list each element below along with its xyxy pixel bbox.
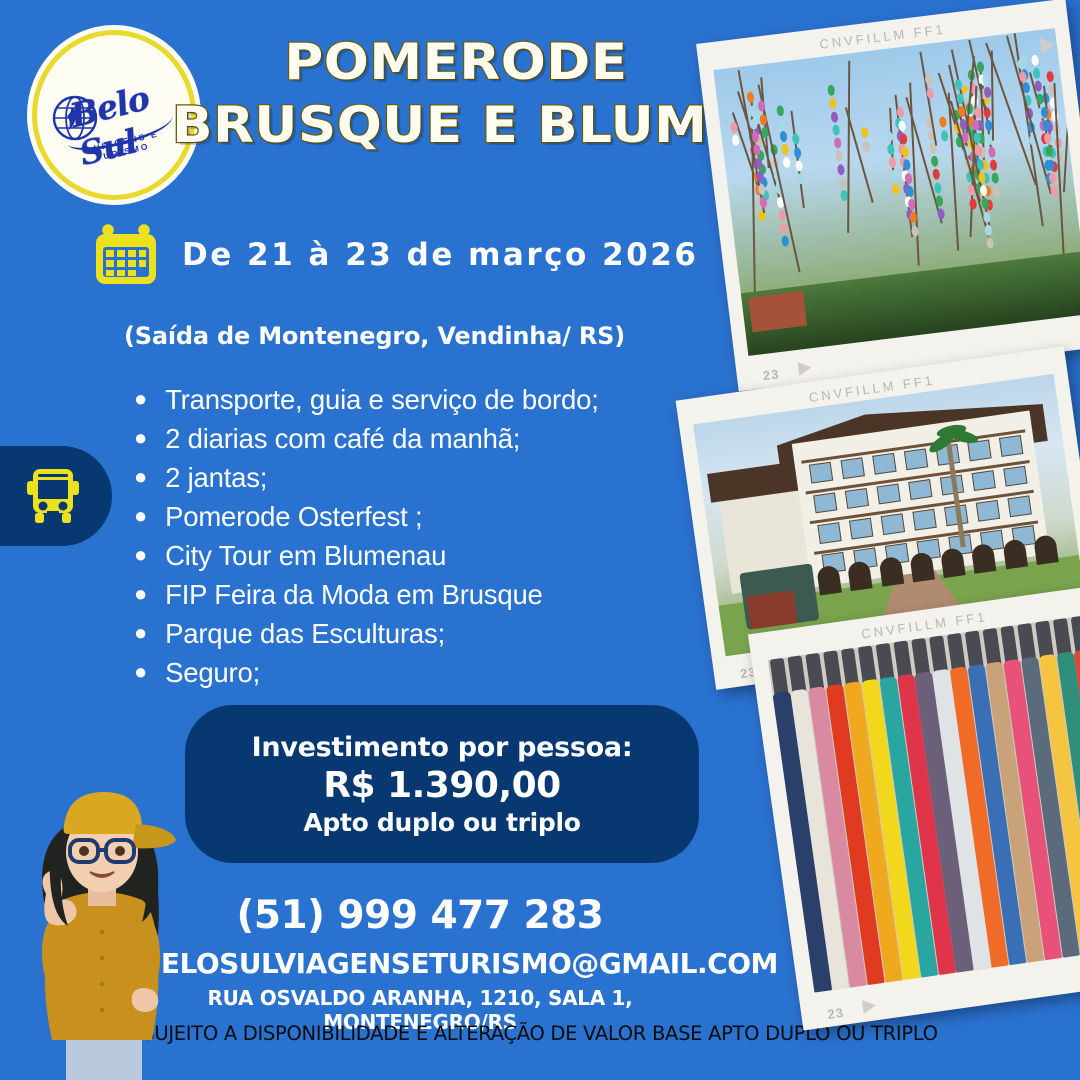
bullet-dot: ● <box>134 622 147 644</box>
list-item: ●Pomerode Osterfest ; <box>134 503 694 531</box>
list-item-label: Parque das Esculturas; <box>165 620 445 648</box>
date-row: De 21 à 23 de março 2026 <box>92 222 698 288</box>
list-item-label: Pomerode Osterfest ; <box>165 503 422 531</box>
photo-image <box>713 28 1080 356</box>
bullet-dot: ● <box>134 466 147 488</box>
bullet-dot: ● <box>134 661 147 683</box>
headline-line-2: BRUSQUE E BLUMENAU <box>172 99 732 152</box>
price-label: Investimento por pessoa: <box>252 732 633 763</box>
list-item-label: Transporte, guia e serviço de bordo; <box>165 386 599 414</box>
film-triangle-icon <box>798 360 813 375</box>
list-item: ●FIP Feira da Moda em Brusque <box>134 581 694 609</box>
headline-line-1: POMERODE <box>180 36 731 89</box>
bullet-dot: ● <box>134 583 147 605</box>
travel-agent-avatar <box>6 782 196 1080</box>
list-item-label: Seguro; <box>165 659 260 687</box>
photo-image <box>768 615 1080 993</box>
list-item: ●City Tour em Blumenau <box>134 542 694 570</box>
includes-list: ●Transporte, guia e serviço de bordo; ●2… <box>134 386 694 698</box>
list-item: ●Parque das Esculturas; <box>134 620 694 648</box>
contact-block: (51) 999 477 283 BELOSULVIAGENSETURISMO@… <box>140 893 700 1034</box>
email-address[interactable]: BELOSULVIAGENSETURISMO@GMAIL.COM <box>140 947 700 980</box>
trip-dates: De 21 à 23 de março 2026 <box>182 237 698 273</box>
departure-info: (Saída de Montenegro, Vendinha/ RS) <box>124 322 625 350</box>
list-item-label: City Tour em Blumenau <box>165 542 446 570</box>
easter-egg-tree-photo: CNVFILLM FF1 23 <box>696 0 1080 391</box>
bus-icon <box>27 467 79 525</box>
list-item-label: 2 diarias com café da manhã; <box>165 425 520 453</box>
film-triangle-icon <box>862 998 877 1014</box>
bullet-dot: ● <box>134 388 147 410</box>
price-box: Investimento por pessoa: R$ 1.390,00 Apt… <box>185 705 699 863</box>
bus-badge <box>0 446 112 546</box>
film-number: 23 <box>762 366 780 383</box>
bullet-dot: ● <box>134 505 147 527</box>
bullet-dot: ● <box>134 544 147 566</box>
list-item-label: FIP Feira da Moda em Brusque <box>165 581 543 609</box>
list-item: ●2 jantas; <box>134 464 694 492</box>
list-item: ●Seguro; <box>134 659 694 687</box>
film-triangle-icon <box>1040 36 1056 54</box>
headline: POMERODE BRUSQUE E BLUMENAU <box>196 36 716 152</box>
price-note: Apto duplo ou triplo <box>303 808 580 837</box>
bullet-dot: ● <box>134 427 147 449</box>
price-value: R$ 1.390,00 <box>323 765 560 806</box>
phone-number[interactable]: (51) 999 477 283 <box>140 893 700 938</box>
film-number: 23 <box>827 1005 845 1022</box>
flyer-canvas: Belo Sul VIAGENS E TURISMO POMERODE BRUS… <box>0 0 1080 1080</box>
list-item: ●2 diarias com café da manhã; <box>134 425 694 453</box>
calendar-icon <box>92 222 160 288</box>
list-item: ●Transporte, guia e serviço de bordo; <box>134 386 694 414</box>
list-item-label: 2 jantas; <box>165 464 267 492</box>
clothing-rack-photo: CNVFILLM FF1 23 <box>748 585 1080 1030</box>
